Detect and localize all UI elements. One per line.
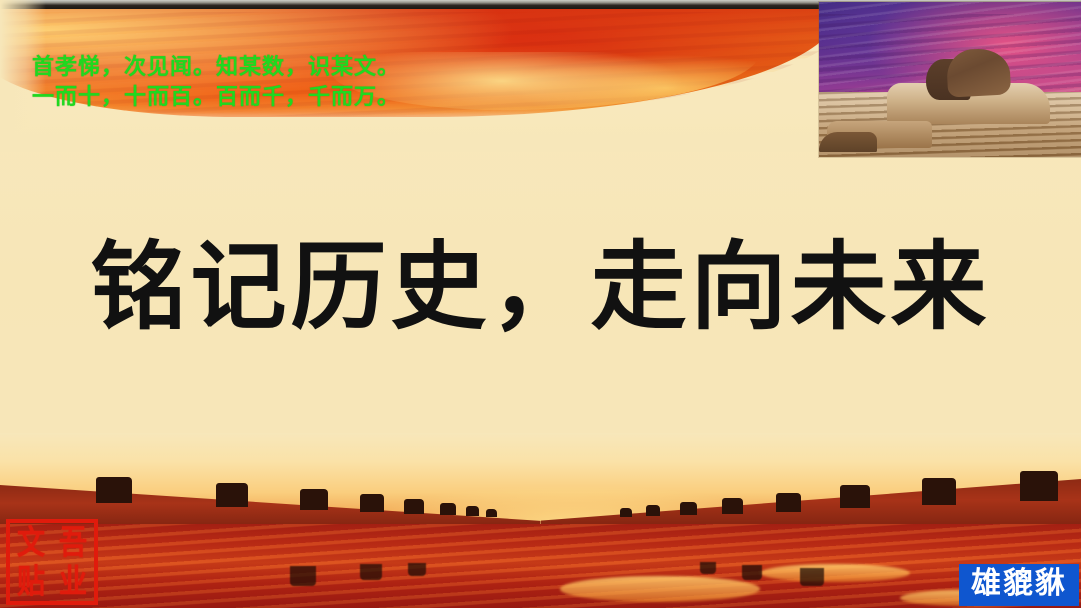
wall-reflection [742, 565, 762, 580]
wall-reflection [290, 566, 316, 586]
wall-merlon [300, 489, 328, 510]
wall-merlon [722, 498, 743, 514]
banner-bottom-fade [0, 112, 860, 152]
wall-merlon [680, 502, 697, 515]
wall-merlon [922, 478, 956, 505]
presentation-slide: 首孝悌，次见闻。知某数，识某文。 一而十，十而百。百而千，千而万。 铭记历史，走… [0, 0, 1081, 608]
wall-merlon [840, 485, 870, 508]
seal-char-1: 文 [17, 526, 45, 559]
wall-merlon [1020, 471, 1058, 501]
verse-line-1: 首孝悌，次见闻。知某数，识某文。 [32, 52, 792, 82]
water-puddle [760, 564, 910, 582]
water-puddle [560, 576, 760, 602]
wall-merlon [776, 493, 801, 512]
sphinx-photo [819, 2, 1081, 157]
page-title: 铭记历史，走向未来 [0, 232, 1081, 342]
wall-merlon [466, 506, 479, 516]
sunset-wall-landscape [0, 433, 1081, 608]
wall-merlon [360, 494, 384, 512]
wall-reflection [360, 564, 382, 580]
watermark-badge: 雄貔貅 [959, 564, 1079, 606]
wall-merlon [486, 509, 497, 517]
wall-merlon [646, 505, 660, 516]
seal-char-3: 贴 [17, 565, 45, 598]
wall-merlon [404, 499, 424, 514]
sphinx-foreground-rock [819, 132, 877, 152]
wall-merlon [96, 477, 132, 503]
wall-reflection [700, 562, 716, 574]
wall-merlon [216, 483, 248, 507]
red-seal-stamp: 文 吾 贴 业 [6, 519, 98, 605]
seal-char-2: 吾 [59, 526, 87, 559]
verse-line-2: 一而十，十而百。百而千，千而万。 [32, 82, 792, 112]
classical-verse-text: 首孝悌，次见闻。知某数，识某文。 一而十，十而百。百而千，千而万。 [32, 52, 792, 112]
wall-merlon [440, 503, 456, 515]
wall-reflection [408, 563, 426, 576]
wall-merlon [620, 508, 632, 517]
wall-reflection [800, 568, 824, 586]
seal-char-4: 业 [59, 565, 87, 598]
